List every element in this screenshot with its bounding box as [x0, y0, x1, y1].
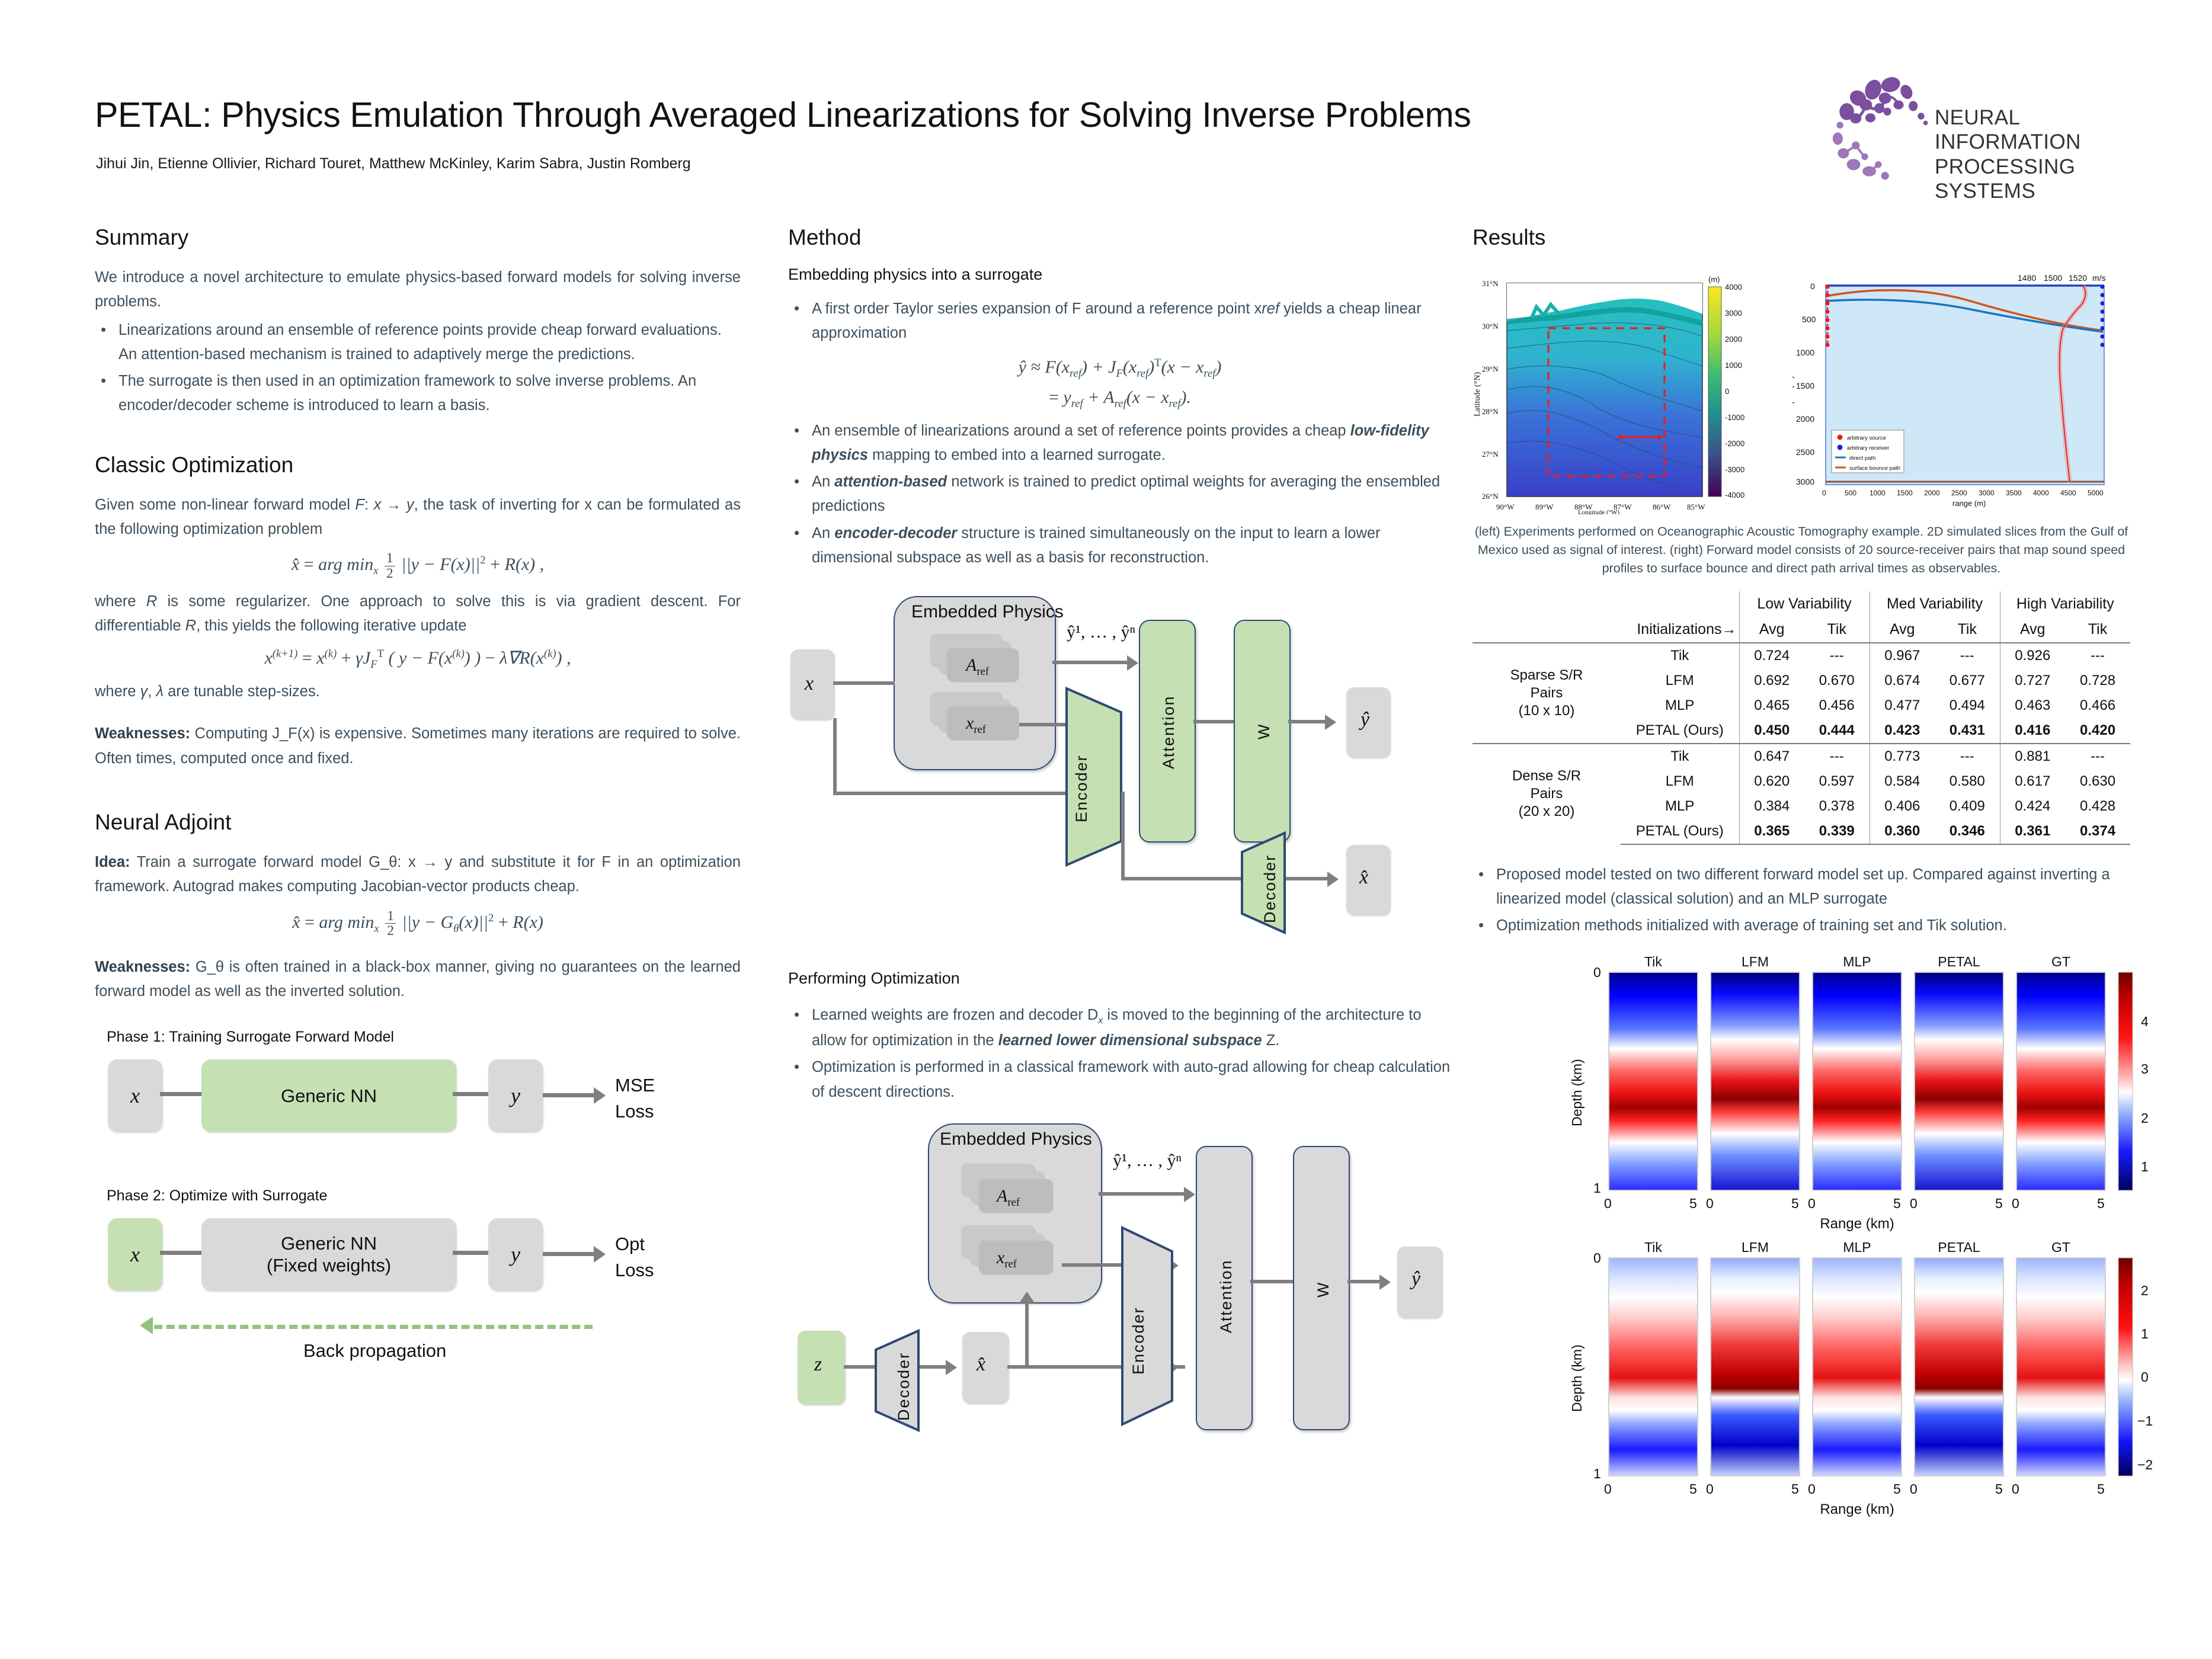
author-list: Jihui Jin, Etienne Ollivier, Richard Tou… [96, 155, 1518, 172]
column-middle: Method Embedding physics into a surrogat… [788, 225, 1452, 1452]
diagram2-arrow-xhat-to-ep [1019, 1292, 1035, 1303]
heatmap2-panel-label: Tik [1644, 1240, 1662, 1255]
classic-optimization-heading: Classic Optimization [95, 453, 741, 478]
classic-equation-2: x(k+1) = x(k) + γJFT ( y − F(x(k)) ) − λ… [95, 648, 741, 671]
svg-text:0: 0 [1706, 1481, 1714, 1497]
phase1-input-box: x [108, 1059, 162, 1132]
diagram1-conn-x-right [833, 792, 1097, 795]
table-header-group-row: Low Variability Med Variability High Var… [1472, 591, 2130, 617]
table-header-sub-row: Initializations→ Avg Tik Avg Tik Avg Tik [1472, 617, 2130, 643]
backprop-arrowhead [140, 1317, 153, 1334]
phase2-loss-line2: Loss [615, 1257, 654, 1283]
svg-text:(m): (m) [1708, 275, 1720, 284]
classic-weaknesses: Weaknesses: Computing J_F(x) is expensiv… [95, 722, 741, 771]
backprop-label: Back propagation [303, 1340, 446, 1362]
method-bullets-2: An ensemble of linearizations around a s… [788, 419, 1452, 571]
phase1-label: Phase 1: Training Surrogate Forward Mode… [107, 1029, 394, 1046]
svg-text:5: 5 [1893, 1196, 1901, 1211]
phase1-model-label: Generic NN [281, 1085, 377, 1107]
heatmap1-panel-label: PETAL [1938, 955, 1980, 969]
svg-text:1500: 1500 [1796, 381, 1814, 390]
logo-line-2: PROCESSING SYSTEMS [1935, 155, 2145, 204]
svg-text:1500: 1500 [2044, 273, 2062, 283]
list-item: Proposed model tested on two different f… [1472, 863, 2130, 912]
diagram2-xhat-label: x̂ [977, 1353, 985, 1376]
phase2-output-label: y [511, 1242, 520, 1267]
phase2-loss-label: Opt Loss [615, 1231, 654, 1283]
diagram1-arrow-w-to-yhat [1325, 715, 1336, 730]
phase-diagrams: Phase 1: Training Surrogate Forward Mode… [95, 1029, 741, 1408]
diagram1-decoder-label: Decoder [1261, 854, 1279, 923]
svg-text:2500: 2500 [1796, 447, 1814, 457]
cell: 0.406 [1870, 794, 1935, 819]
svg-text:1: 1 [1593, 1466, 1601, 1481]
col-header: Avg [1739, 617, 1804, 643]
svg-text:4000: 4000 [1725, 283, 1742, 292]
cell: 0.773 [1870, 744, 1935, 769]
diagram2-w-label: W [1314, 1281, 1333, 1297]
diagram1-conn-to-decoder [1121, 877, 1246, 880]
diagram1-w-label: W [1255, 723, 1273, 739]
svg-text:5: 5 [2097, 1481, 2105, 1497]
diagram1-conn-x-to-ep [833, 681, 895, 685]
svg-text:-1000: -1000 [1725, 413, 1744, 422]
phase1-arrowhead [594, 1087, 606, 1104]
cell: 0.881 [2000, 744, 2065, 769]
svg-text:1000: 1000 [1796, 348, 1814, 357]
cell: 0.444 [1804, 718, 1870, 744]
col-header: Avg [2000, 617, 2065, 643]
svg-text:5: 5 [1689, 1481, 1697, 1497]
heatmap1-cbar-tick: 3 [2141, 1061, 2149, 1077]
svg-text:1500: 1500 [1897, 489, 1913, 497]
cell: 0.597 [1804, 769, 1870, 794]
cell: 0.420 [2065, 718, 2130, 744]
neural-adjoint-weaknesses: Weaknesses: G_θ is often trained in a bl… [95, 955, 741, 1004]
neural-adjoint-equation: x̂ = arg minx 12 ||y − Gθ(x)||2 + R(x) [95, 909, 741, 939]
svg-text:5: 5 [2097, 1196, 2105, 1211]
diagram1-aref-label: Aref [966, 655, 989, 678]
neurips-mark-icon [1831, 71, 1944, 184]
svg-text:0: 0 [1604, 1481, 1612, 1497]
diagram1-xref-label: xref [966, 713, 986, 736]
classic-equation-1: x̂ = arg minx 12 ||y − F(x)||2 + R(x) , [95, 551, 741, 581]
svg-text:30°N: 30°N [1482, 322, 1499, 331]
diagram2-yhats-label: ŷ¹, … , ŷⁿ [1113, 1151, 1182, 1171]
svg-text:0: 0 [1593, 965, 1601, 980]
phase1-loss-line1: MSE [615, 1072, 655, 1098]
logo-text: NEURAL INFORMATION PROCESSING SYSTEMS [1935, 105, 2145, 203]
svg-text:0: 0 [1910, 1481, 1918, 1497]
svg-text:Depth (km): Depth (km) [1569, 1345, 1584, 1413]
cell: --- [2065, 643, 2130, 668]
svg-text:0: 0 [1822, 489, 1826, 497]
svg-text:1480: 1480 [2018, 273, 2036, 283]
diagram1-conn-attn-to-w [1193, 720, 1234, 723]
cell: 0.378 [1804, 794, 1870, 819]
svg-text:m/s: m/s [2092, 273, 2106, 283]
phase1-output-box: y [488, 1059, 543, 1132]
cell: 0.584 [1870, 769, 1935, 794]
svg-text:-3000: -3000 [1725, 465, 1744, 474]
method-b3-bold: attention-based [834, 473, 947, 490]
cell: 0.423 [1870, 718, 1935, 744]
cell: 0.374 [2065, 819, 2130, 844]
svg-text:Range (km): Range (km) [1820, 1216, 1894, 1232]
svg-text:89°W: 89°W [1535, 502, 1554, 511]
heatmap-1-svg: Tik LFM MLP PETAL GT 01 Depth (km) 05 05… [1567, 955, 2136, 1233]
phase2-connector-1 [160, 1251, 206, 1255]
cell: 0.727 [2000, 668, 2065, 693]
cell: 0.617 [2000, 769, 2065, 794]
svg-text:range (m): range (m) [1952, 499, 1986, 508]
classic-paragraph-3: where γ, λ are tunable step-sizes. [95, 680, 741, 704]
phase1-output-label: y [511, 1083, 520, 1108]
cell: 0.463 [2000, 693, 2065, 718]
phase1-model-box: Generic NN [201, 1059, 456, 1132]
results-heading: Results [1472, 225, 2130, 250]
heatmap2-cbar-tick: 1 [2141, 1326, 2149, 1342]
heatmap2-panel-label: PETAL [1938, 1240, 1980, 1255]
cell: 0.494 [1935, 693, 2000, 718]
list-item: Optimization methods initialized with av… [1472, 914, 2130, 938]
svg-text:0: 0 [1706, 1196, 1714, 1211]
phase1-connector-1 [160, 1092, 206, 1096]
phase2-output-box: y [488, 1218, 543, 1290]
neural-adjoint-idea-label: Idea: [95, 854, 130, 870]
results-bullets: Proposed model tested on two different f… [1472, 863, 2130, 939]
svg-text:-4000: -4000 [1725, 491, 1744, 499]
diagram2-attention-label: Attention [1217, 1259, 1235, 1333]
cell: 0.409 [1935, 794, 2000, 819]
heatmap1-panel-label: Tik [1644, 955, 1662, 969]
heatmap1-panel-label: GT [2051, 955, 2070, 969]
phase2-label: Phase 2: Optimize with Surrogate [107, 1187, 327, 1205]
svg-text:27°N: 27°N [1482, 450, 1499, 459]
method-subheading-2: Performing Optimization [788, 969, 1452, 988]
group-header-low: Low Variability [1739, 591, 1870, 617]
method-b1-a: A first order Taylor series expansion of… [812, 300, 1262, 317]
svg-text:arbitrary source: arbitrary source [1847, 435, 1886, 441]
list-item: Learned weights are frozen and decoder D… [788, 1003, 1452, 1053]
phase2-arrowhead [594, 1246, 606, 1263]
svg-text:2000: 2000 [1796, 414, 1814, 424]
method-b2-post: mapping to embed into a learned surrogat… [868, 447, 1166, 463]
classic-weaknesses-text: Computing J_F(x) is expensive. Sometimes… [95, 725, 741, 766]
heatmap2-panel-label: LFM [1742, 1240, 1769, 1255]
classic-paragraph-2: where R is some regularizer. One approac… [95, 590, 741, 639]
cell: 0.466 [2065, 693, 2130, 718]
diagram2-embedded-physics-title: Embedded Physics [940, 1129, 1092, 1149]
diagram2-yhat-label: ŷ [1411, 1268, 1420, 1290]
list-item: An encoder-decoder structure is trained … [788, 521, 1452, 571]
heatmap2-cbar-tick: −2 [2137, 1457, 2153, 1473]
cell: 0.477 [1870, 693, 1935, 718]
neural-adjoint-heading: Neural Adjoint [95, 810, 741, 835]
column-right: Results [1472, 225, 2130, 1519]
heatmap2-cbar-tick: −1 [2137, 1413, 2153, 1429]
diagram2-arrow-ep-to-attn [1184, 1187, 1195, 1202]
method-bullets-1: A first order Taylor series expansion of… [788, 297, 1452, 346]
svg-text:5: 5 [1689, 1196, 1697, 1211]
diagram2-conn-ep-to-attn [1099, 1192, 1186, 1196]
svg-text:3000: 3000 [1796, 477, 1814, 486]
svg-text:Longitude (°W): Longitude (°W) [1578, 509, 1619, 514]
svg-text:500: 500 [1802, 315, 1816, 324]
row-group-dense: Dense S/R Pairs (20 x 20) [1472, 744, 1621, 844]
cell: 0.692 [1739, 668, 1804, 693]
summary-bullets: Linearizations around an ensemble of ref… [95, 318, 741, 418]
group-header-high: High Variability [2000, 591, 2130, 617]
heatmap2-cbar-tick: 0 [2141, 1369, 2149, 1385]
diagram2-conn-w-to-yhat [1347, 1280, 1382, 1283]
svg-text:0: 0 [1808, 1481, 1816, 1497]
heatmap1-panel-label: LFM [1742, 955, 1769, 969]
cell: 0.630 [2065, 769, 2130, 794]
diagram1-yhats-label: ŷ¹, … , ŷⁿ [1067, 622, 1135, 642]
diagram2-embedded-physics-box [928, 1123, 1102, 1303]
svg-text:0: 0 [1810, 281, 1815, 291]
method-name: MLP [1621, 794, 1739, 819]
svg-text:29°N: 29°N [1482, 364, 1499, 373]
svg-text:26°N: 26°N [1482, 492, 1499, 501]
cell: 0.416 [2000, 718, 2065, 744]
svg-text:0: 0 [1808, 1196, 1816, 1211]
method-b4-pre: An [812, 525, 834, 542]
heatmap2-panel-label: GT [2051, 1240, 2070, 1255]
cell: 0.339 [1804, 819, 1870, 844]
opt-b1-pre: Learned weights are frozen and decoder D [812, 1007, 1098, 1023]
method-subheading-1: Embedding physics into a surrogate [788, 265, 1452, 284]
heatmap1-cbar-tick: 4 [2141, 1014, 2149, 1030]
method-equation-line1: ŷ ≈ F(xref) + JF(xref)T(x − xref) [788, 357, 1452, 380]
col-header: Tik [1935, 617, 2000, 643]
diagram2-arrow-w-to-yhat [1379, 1274, 1391, 1290]
raypath-figure: 148015001520m/s 05001000 150020002500300… [1792, 265, 2130, 514]
list-item: A first order Taylor series expansion of… [788, 297, 1452, 346]
logo-line-1: NEURAL INFORMATION [1935, 105, 2145, 155]
diagram1-conn-w-to-yhat [1288, 720, 1327, 723]
heatmap-figure-2: Tik LFM MLP PETAL GT 01 Depth (km) 05 05… [1567, 1240, 2212, 1519]
table-row: Sparse S/R Pairs (10 x 10) Tik 0.724 ---… [1472, 643, 2130, 668]
results-top-figures: (m) 400030002000 10000-1000 -2000-3000-4… [1472, 265, 2130, 514]
neural-adjoint-weaknesses-label: Weaknesses: [95, 959, 190, 975]
opt-b1-post: Z. [1262, 1032, 1280, 1049]
architecture-diagram-optimization: Embedded Physics Aref xref ŷ¹, … , ŷⁿ z … [788, 1120, 1452, 1452]
neural-adjoint-idea: Idea: Train a surrogate forward model G_… [95, 850, 741, 899]
diagram1-xhat-label: x̂ [1359, 866, 1368, 889]
phase1-loss-line2: Loss [615, 1098, 655, 1124]
phase2-connector-2 [453, 1251, 493, 1255]
cell: --- [1935, 643, 2000, 668]
svg-text:3000: 3000 [1979, 489, 1995, 497]
cell: 0.450 [1739, 718, 1804, 744]
list-item: Linearizations around an ensemble of ref… [95, 318, 741, 367]
diagram1-arrow-decoder-to-xhat [1327, 872, 1339, 887]
method-name: MLP [1621, 693, 1739, 718]
architecture-diagram-training: x Embedded Physics Aref xref ŷ¹, … , ŷⁿ [788, 591, 1452, 959]
heatmap2-panel-label: MLP [1843, 1240, 1871, 1255]
diagram2-z-label: z [814, 1353, 822, 1376]
cell: 0.361 [2000, 819, 2065, 844]
svg-text:Latitude (°N): Latitude (°N) [1473, 371, 1482, 417]
results-caption: (left) Experiments performed on Oceanogr… [1472, 523, 2130, 578]
cell: 0.728 [2065, 668, 2130, 693]
heatmap1-cbar-tick: 2 [2141, 1110, 2149, 1126]
diagram1-input-label: x [805, 672, 814, 695]
method-name: LFM [1621, 769, 1739, 794]
diagram2-xref-label: xref [997, 1248, 1017, 1271]
method-name: Tik [1621, 643, 1739, 668]
neural-adjoint-idea-text: Train a surrogate forward model G_θ: x →… [95, 854, 741, 895]
phase1-loss-label: MSE Loss [615, 1072, 655, 1124]
phase2-connector-3 [543, 1252, 595, 1256]
svg-text:4000: 4000 [2033, 489, 2049, 497]
svg-text:1000: 1000 [1725, 361, 1742, 370]
cell: --- [1804, 744, 1870, 769]
cell: 0.677 [1935, 668, 2000, 693]
group-header-med: Med Variability [1870, 591, 2000, 617]
method-b3-pre: An [812, 473, 834, 490]
cell: 0.967 [1870, 643, 1935, 668]
svg-text:Range (km): Range (km) [1820, 1501, 1894, 1517]
cell: 0.365 [1739, 819, 1804, 844]
poster-root: PETAL: Physics Emulation Through Average… [0, 0, 2212, 1659]
diagram2-conn-attn-to-w [1250, 1280, 1293, 1283]
heatmap1-cbar-tick: 1 [2141, 1159, 2149, 1175]
phase2-loss-line1: Opt [615, 1231, 654, 1257]
diagram2-aref-label: Aref [997, 1186, 1020, 1209]
method-name: PETAL (Ours) [1621, 718, 1739, 744]
svg-text:3500: 3500 [2006, 489, 2022, 497]
diagram1-encoder-label: Encoder [1073, 755, 1091, 823]
svg-text:0: 0 [1910, 1196, 1918, 1211]
svg-text:5000: 5000 [2088, 489, 2104, 497]
svg-text:90°W: 90°W [1496, 502, 1515, 511]
svg-text:Depth (km): Depth (km) [1569, 1059, 1584, 1127]
svg-text:arbitrary receiver: arbitrary receiver [1847, 445, 1889, 451]
svg-text:4500: 4500 [2060, 489, 2076, 497]
svg-text:5: 5 [1995, 1196, 2003, 1211]
neural-adjoint-weaknesses-text: G_θ is often trained in a black-box mann… [95, 959, 741, 1000]
summary-heading: Summary [95, 225, 741, 250]
phase1-connector-2 [453, 1092, 493, 1096]
summary-intro: We introduce a novel architecture to emu… [95, 265, 741, 315]
gulf-of-mexico-map-figure: (m) 400030002000 10000-1000 -2000-3000-4… [1472, 265, 1792, 514]
svg-text:1000: 1000 [1870, 489, 1886, 497]
cell: 0.431 [1935, 718, 2000, 744]
svg-text:5: 5 [1995, 1481, 2003, 1497]
diagram1-conn-ep-to-attn [1052, 661, 1129, 664]
col-header: Tik [2065, 617, 2130, 643]
cell: 0.580 [1935, 769, 2000, 794]
diagram1-attention-label: Attention [1160, 696, 1178, 770]
phase2-model-line2: (Fixed weights) [267, 1254, 391, 1276]
heatmap2-cbar-tick: 2 [2141, 1283, 2149, 1299]
svg-text:direct path: direct path [1849, 455, 1875, 462]
svg-text:28°N: 28°N [1482, 407, 1499, 416]
svg-text:0: 0 [2012, 1481, 2019, 1497]
method-equation-line2: = yref + Aref(x − xref). [788, 387, 1452, 411]
phase2-input-label: x [130, 1242, 140, 1267]
heatmap-figure-1: Tik LFM MLP PETAL GT 01 Depth (km) 05 05… [1567, 955, 2212, 1233]
svg-text:5: 5 [1791, 1196, 1799, 1211]
svg-text:86°W: 86°W [1653, 502, 1671, 511]
cell: 0.424 [2000, 794, 2065, 819]
svg-text:0: 0 [2012, 1196, 2019, 1211]
svg-text:3000: 3000 [1725, 309, 1742, 318]
svg-text:5: 5 [1791, 1481, 1799, 1497]
optimization-bullets: Learned weights are frozen and decoder D… [788, 1003, 1452, 1104]
svg-text:1520: 1520 [2069, 273, 2087, 283]
neurips-logo: NEURAL INFORMATION PROCESSING SYSTEMS [1813, 71, 2145, 190]
svg-text:0: 0 [1593, 1250, 1601, 1266]
svg-text:-2000: -2000 [1725, 439, 1744, 448]
cell: 0.724 [1739, 643, 1804, 668]
method-b4-bold: encoder-decoder [834, 525, 957, 542]
list-item: Optimization is performed in a classical… [788, 1055, 1452, 1104]
column-left: Summary We introduce a novel architectur… [95, 225, 741, 1408]
heatmap1-panel-label: MLP [1843, 955, 1871, 969]
heatmap-2-svg: Tik LFM MLP PETAL GT 01 Depth (km) 05 05… [1567, 1240, 2136, 1519]
cell: 0.926 [2000, 643, 2065, 668]
method-b2-pre: An ensemble of linearizations around a s… [812, 422, 1350, 439]
list-item: An ensemble of linearizations around a s… [788, 419, 1452, 468]
diagram1-embedded-physics-title: Embedded Physics [911, 602, 1064, 622]
diagram2-conn-decoder-to-xhat [920, 1365, 948, 1369]
col-header: Avg [1870, 617, 1935, 643]
diagram2-conn-xhat-up [1025, 1302, 1029, 1367]
cell: 0.465 [1739, 693, 1804, 718]
svg-text:0: 0 [1725, 387, 1729, 396]
results-table: Low Variability Med Variability High Var… [1472, 591, 2130, 845]
svg-text:85°W: 85°W [1687, 502, 1705, 511]
diagram1-conn-enc-down [1121, 792, 1125, 880]
cell: 0.647 [1739, 744, 1804, 769]
cell: 0.360 [1870, 819, 1935, 844]
col-header: Tik [1804, 617, 1870, 643]
diagram1-conn-decoder-to-xhat [1286, 877, 1330, 880]
cell: 0.674 [1870, 668, 1935, 693]
diagram2-encoder-label: Encoder [1129, 1306, 1148, 1375]
method-heading: Method [788, 225, 1452, 250]
cell: 0.670 [1804, 668, 1870, 693]
svg-text:5: 5 [1893, 1481, 1901, 1497]
cell: 0.346 [1935, 819, 2000, 844]
diagram1-yhat-label: ŷ [1361, 709, 1369, 731]
svg-text:2000: 2000 [1725, 335, 1742, 344]
initializations-label: Initializations→ [1621, 617, 1739, 643]
classic-paragraph-1: Given some non-linear forward model F: x… [95, 493, 741, 542]
svg-text:1: 1 [1593, 1180, 1601, 1196]
cell: 0.384 [1739, 794, 1804, 819]
page-title: PETAL: Physics Emulation Through Average… [95, 95, 1695, 135]
svg-text:0: 0 [1604, 1196, 1612, 1211]
phase1-input-label: x [130, 1083, 140, 1108]
list-item: An attention-based network is trained to… [788, 470, 1452, 519]
classic-weaknesses-label: Weaknesses: [95, 725, 190, 742]
diagram1-conn-x-down [833, 718, 837, 795]
backprop-dashed-line [154, 1325, 593, 1329]
svg-text:surface bounce path: surface bounce path [1849, 465, 1900, 472]
phase2-model-line1: Generic NN [281, 1232, 377, 1254]
diagram2-decoder-label: Decoder [895, 1352, 913, 1421]
svg-text:31°N: 31°N [1482, 279, 1499, 288]
svg-text:2500: 2500 [1951, 489, 1967, 497]
opt-b1-bold: learned lower dimensional subspace [998, 1032, 1262, 1049]
list-item: The surrogate is then used in an optimiz… [95, 369, 741, 418]
cell: 0.456 [1804, 693, 1870, 718]
